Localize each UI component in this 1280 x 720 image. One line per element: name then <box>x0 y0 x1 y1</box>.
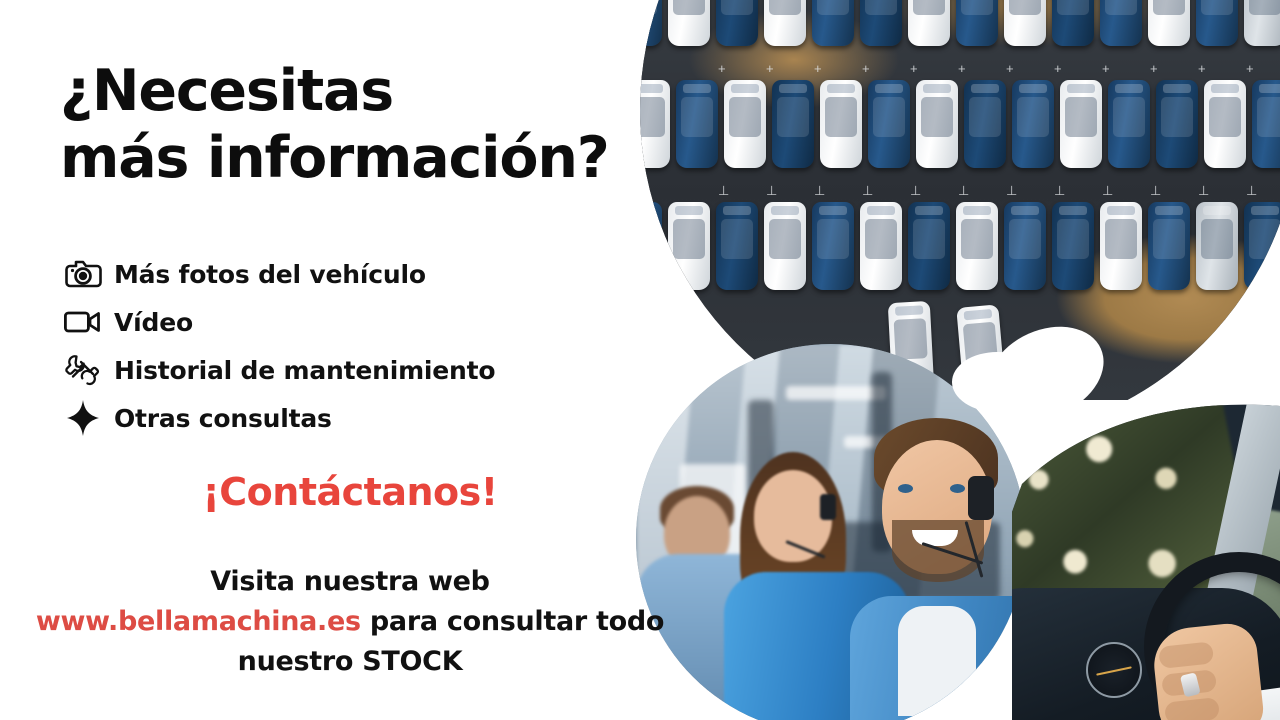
video-camera-icon <box>52 308 114 336</box>
poster-canvas: + + + + + + + + + + + + + ⊥ ⊥ ⊥ ⊥ ⊥ ⊥ ⊥ … <box>0 0 1280 720</box>
car-row <box>640 0 1280 50</box>
website-line-1: Visita nuestra web <box>0 562 700 602</box>
headset-earcup-icon <box>968 476 994 520</box>
car-row <box>640 80 1280 172</box>
driver-hand <box>1151 621 1266 720</box>
headline-line-2: más información? <box>60 125 680 192</box>
list-item: Historial de mantenimiento <box>52 346 652 394</box>
contact-cta-text: ¡Contáctanos! <box>202 470 497 514</box>
website-url[interactable]: www.bellamachina.es <box>36 606 361 637</box>
car-row <box>640 202 1280 294</box>
list-item-label: Historial de mantenimiento <box>114 356 495 385</box>
speedometer-gauge <box>1086 642 1142 698</box>
list-item-label: Vídeo <box>114 308 193 337</box>
list-item: Otras consultas <box>52 394 652 442</box>
white-separator <box>952 352 1042 412</box>
text-column: ¿Necesitas más información? Más fotos de… <box>0 0 700 720</box>
tools-icon <box>52 353 114 387</box>
list-item: Vídeo <box>52 298 652 346</box>
sparkle-icon <box>52 399 114 437</box>
website-line-3: nuestro STOCK <box>0 642 700 682</box>
website-block: Visita nuestra web www.bellamachina.es p… <box>0 562 700 682</box>
list-item-label: Otras consultas <box>114 404 332 433</box>
headline-line-1: ¿Necesitas <box>60 58 393 124</box>
website-line-2-rest: para consultar todo <box>361 606 664 637</box>
website-line-2: www.bellamachina.es para consultar todo <box>0 602 700 642</box>
list-item: Más fotos del vehículo <box>52 250 652 298</box>
camera-icon <box>52 258 114 290</box>
feature-list: Más fotos del vehículo Vídeo <box>52 250 652 442</box>
page-title: ¿Necesitas más información? <box>60 58 680 193</box>
contact-cta: ¡Contáctanos! <box>0 470 700 514</box>
driving-pov-photo <box>1012 392 1280 720</box>
aerial-car-lot-photo: + + + + + + + + + + + + + ⊥ ⊥ ⊥ ⊥ ⊥ ⊥ ⊥ … <box>640 0 1280 400</box>
list-item-label: Más fotos del vehículo <box>114 260 426 289</box>
